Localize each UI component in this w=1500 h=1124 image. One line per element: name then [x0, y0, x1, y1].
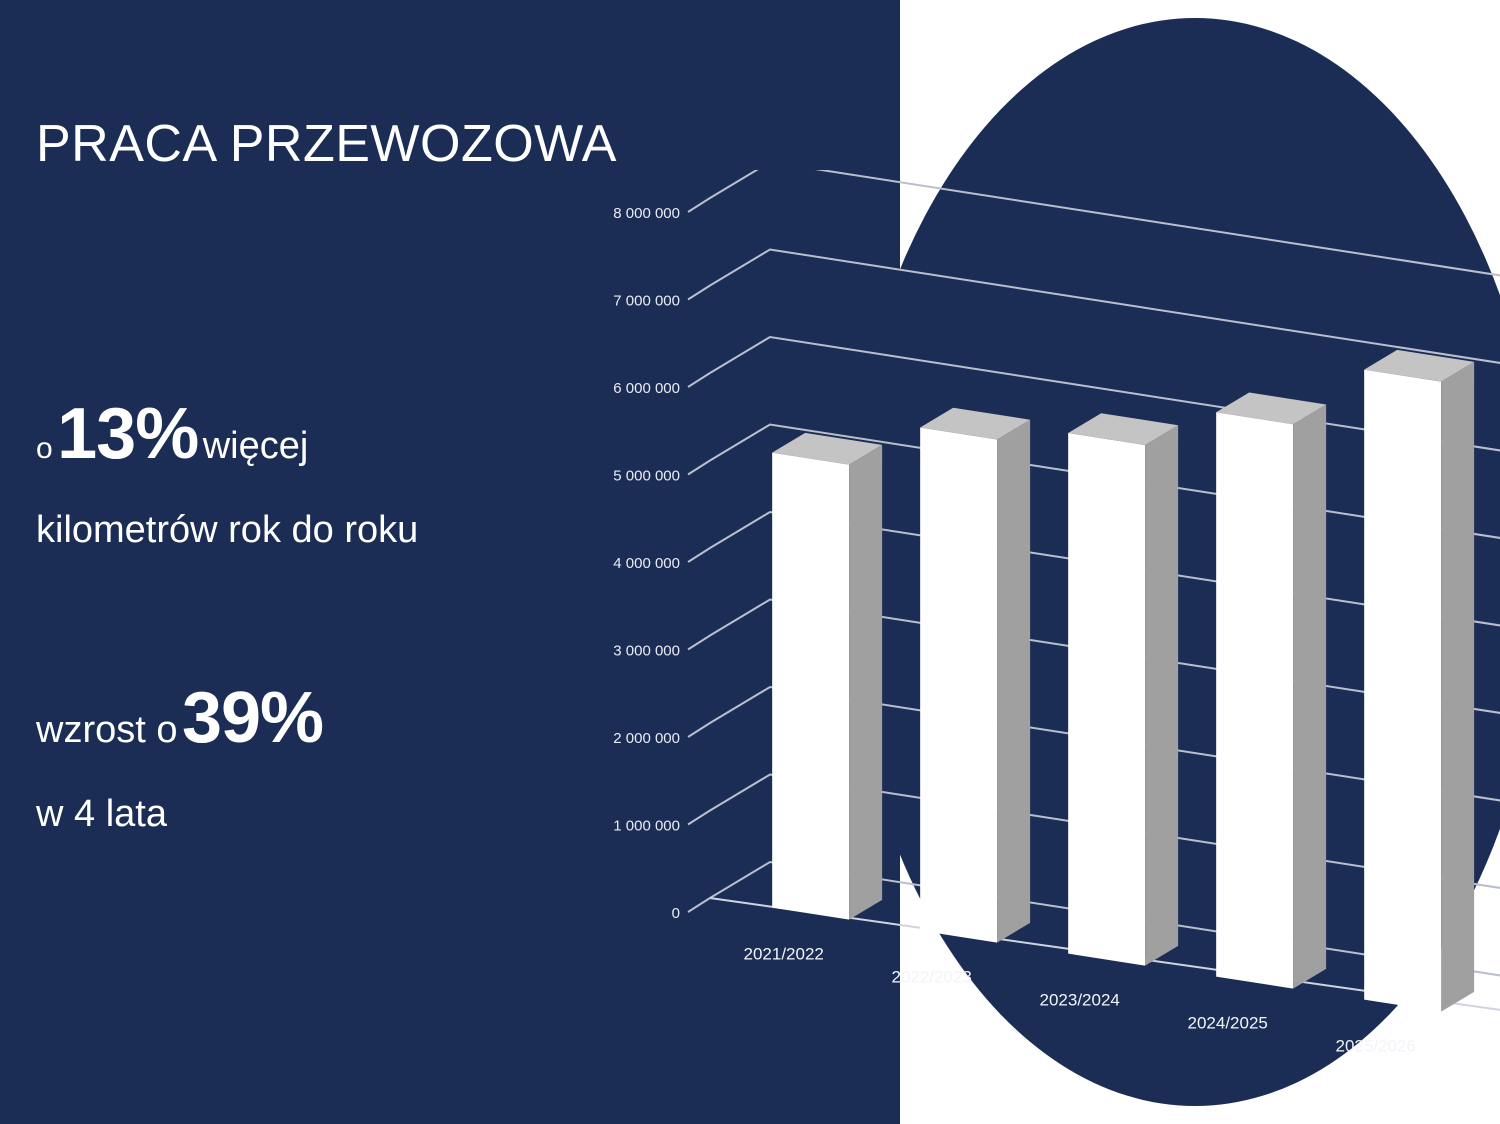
- stat-suffix: więcej: [203, 425, 309, 467]
- chart-bars: [772, 350, 1474, 1012]
- chart-canvas: 01 000 0002 000 0003 000 0004 000 0005 0…: [560, 170, 1500, 1070]
- y-tick-label: 1 000 000: [613, 818, 680, 835]
- bar-2023-2024: [1068, 413, 1178, 965]
- y-tick-label: 4 000 000: [613, 555, 680, 572]
- stat-value: 39%: [182, 678, 323, 758]
- slide-canvas: PRACA PRZEWOZOWA o 13% więcej kilometrów…: [0, 0, 1500, 1124]
- y-tick-label: 3 000 000: [613, 643, 680, 660]
- bar-2025-2026: [1364, 350, 1474, 1012]
- x-category-label: 2022/2023: [892, 968, 972, 987]
- stat-line-2: w 4 lata: [36, 790, 323, 839]
- gridline: [688, 250, 1500, 365]
- bar-chart: 01 000 0002 000 0003 000 0004 000 0005 0…: [560, 170, 1500, 1070]
- gridline: [688, 170, 1500, 277]
- bar-2022-2023: [920, 408, 1030, 943]
- y-tick-label: 0: [672, 905, 680, 922]
- y-tick-label: 8 000 000: [613, 205, 680, 222]
- y-tick-label: 2 000 000: [613, 730, 680, 747]
- y-tick-label: 7 000 000: [613, 293, 680, 310]
- stat-block-yoy: o 13% więcej kilometrów rok do roku: [36, 388, 418, 555]
- page-title: PRACA PRZEWOZOWA: [36, 114, 617, 174]
- x-category-label: 2024/2025: [1188, 1014, 1268, 1033]
- x-category-label: 2023/2024: [1040, 991, 1120, 1010]
- stat-line-1: o 13% więcej: [36, 388, 418, 480]
- stat-line-1: wzrost o 39%: [36, 672, 323, 764]
- y-tick-label: 6 000 000: [613, 380, 680, 397]
- stat-prefix: wzrost o: [36, 709, 177, 751]
- chart-y-axis-ticks: 01 000 0002 000 0003 000 0004 000 0005 0…: [613, 205, 680, 922]
- x-category-label: 2025/2026: [1336, 1037, 1416, 1056]
- stat-block-4-year: wzrost o 39% w 4 lata: [36, 672, 323, 839]
- bar-2021-2022: [772, 433, 882, 920]
- stat-value: 13%: [57, 394, 198, 474]
- y-tick-label: 5 000 000: [613, 468, 680, 485]
- stat-prefix: o: [36, 432, 53, 465]
- stat-line-2: kilometrów rok do roku: [36, 506, 418, 555]
- bar-2024-2025: [1216, 392, 1326, 988]
- x-category-label: 2021/2022: [744, 945, 824, 964]
